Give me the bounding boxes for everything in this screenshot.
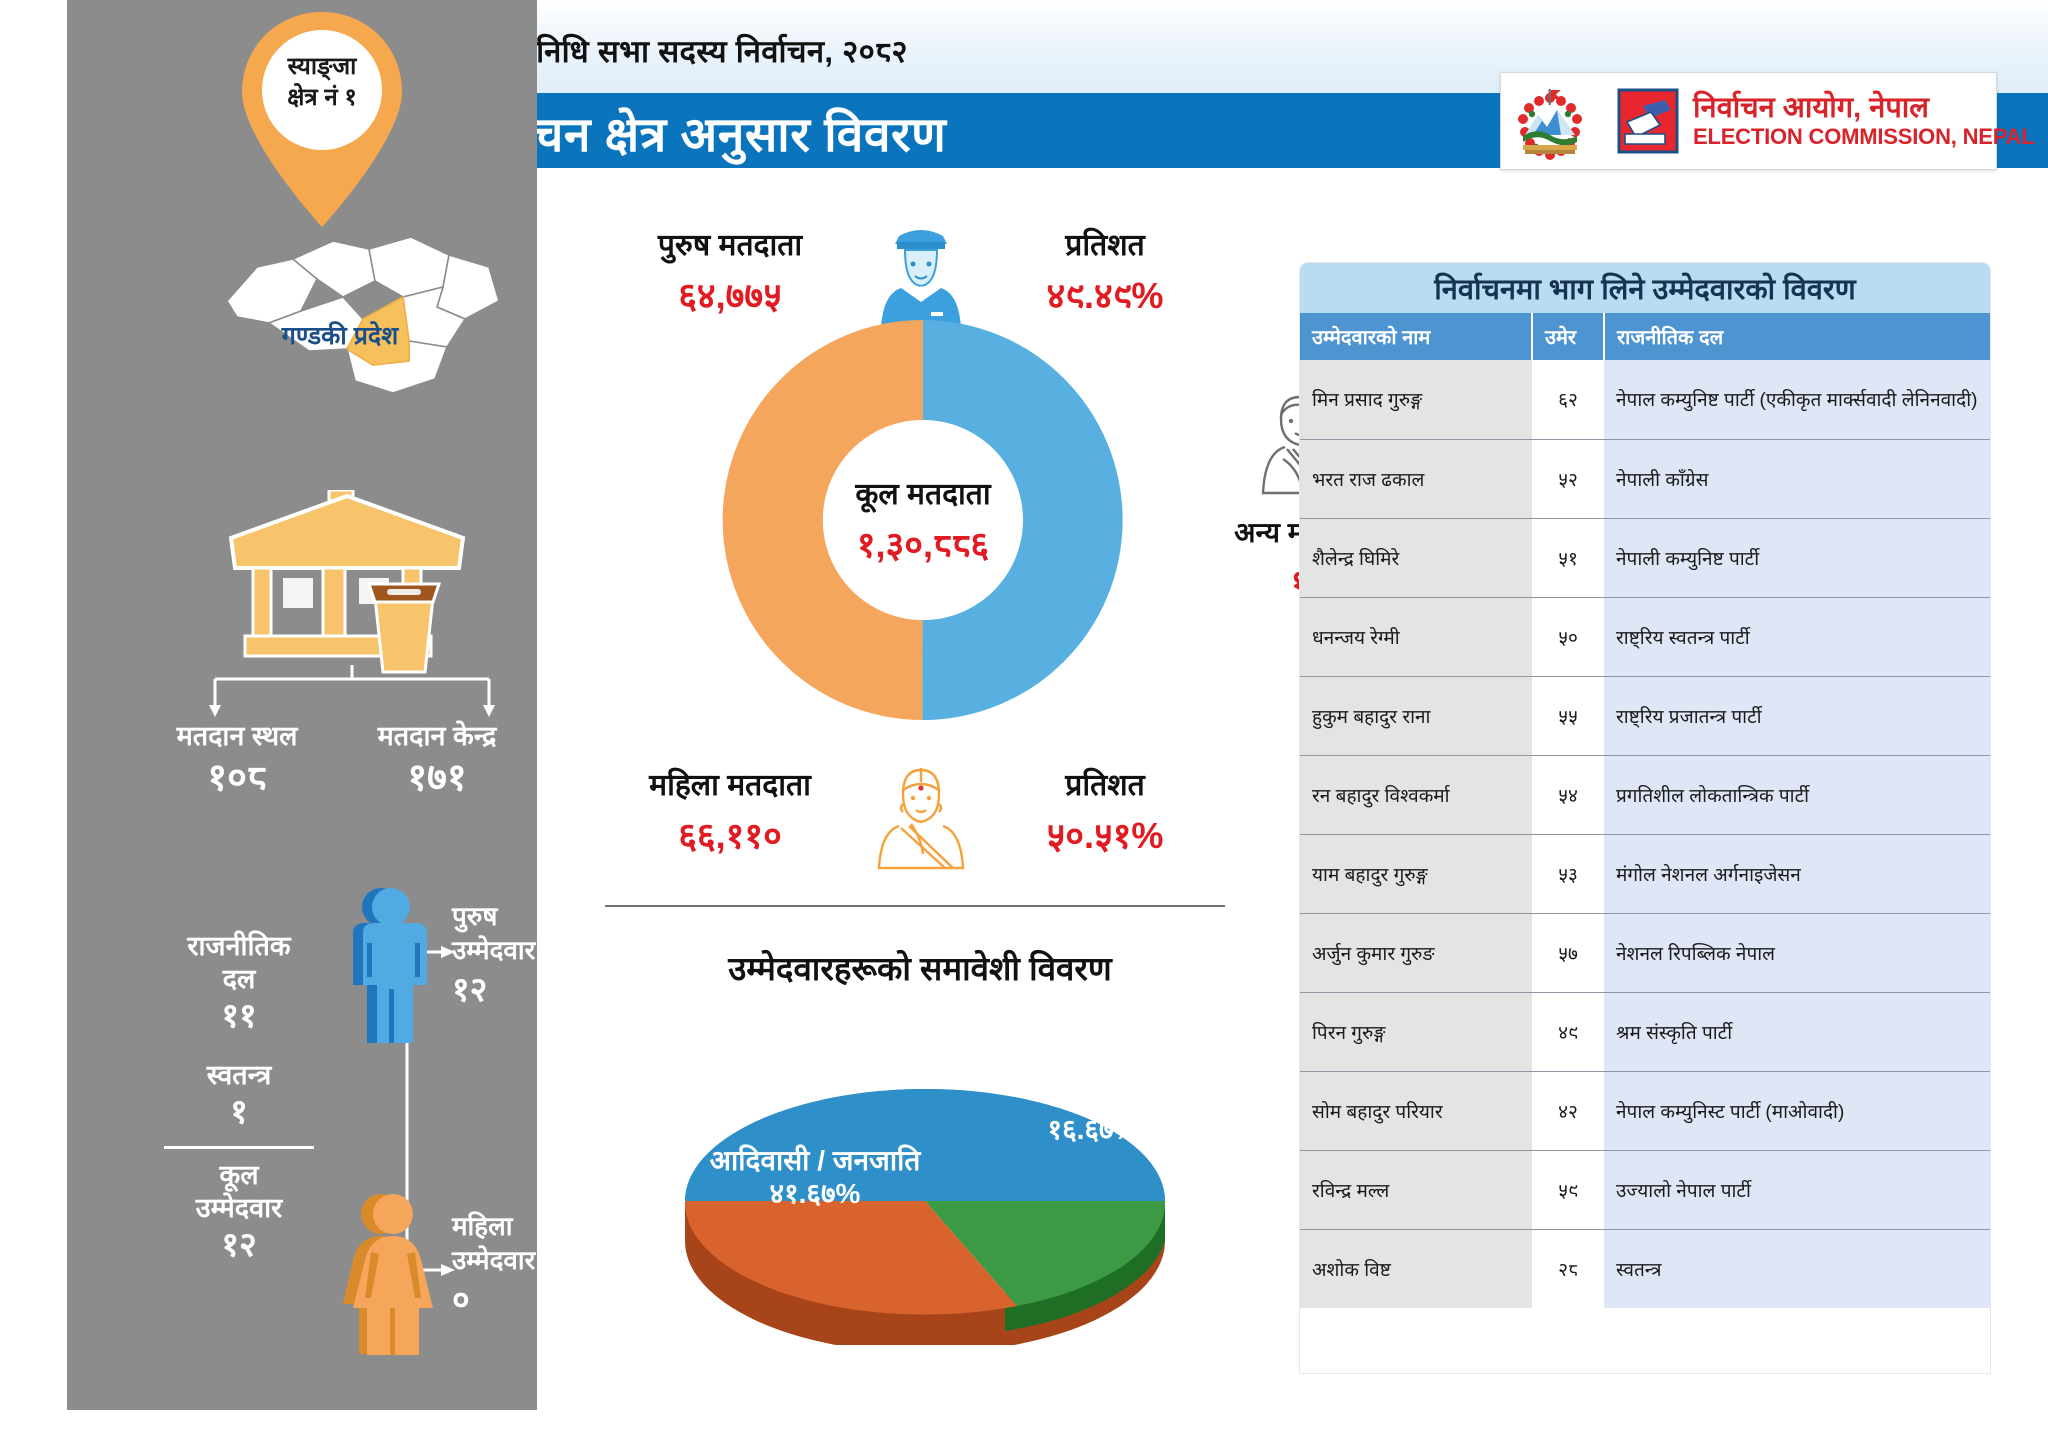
candidate-party-cell: नेपाली काँग्रेस: [1604, 439, 1990, 518]
table-row[interactable]: रन बहादुर विश्वकर्मा५४प्रगतिशील लोकतान्त…: [1300, 755, 1990, 834]
male-candidate-icon: [337, 885, 447, 1045]
candidate-age-cell: ४२: [1532, 1071, 1604, 1150]
sum-rule: [164, 1146, 314, 1149]
female-voter-stat: महिला मतदाता ६६,११०: [600, 768, 860, 859]
candidate-age-cell: ५०: [1532, 597, 1604, 676]
table-row[interactable]: रविन्द्र मल्ल५९उज्यालो नेपाल पार्टी: [1300, 1150, 1990, 1229]
candidate-name-cell: धनन्जय रेग्मी: [1300, 597, 1532, 676]
candidate-age-cell: २८: [1532, 1229, 1604, 1308]
pie-label-khas-arya: खस आर्य ४१.६७%: [755, 1019, 955, 1085]
candidate-name-cell: रविन्द्र मल्ल: [1300, 1150, 1532, 1229]
table-row[interactable]: मिन प्रसाद गुरुङ्ग६२नेपाल कम्युनिष्ट पार…: [1300, 360, 1990, 439]
candidate-party-cell: प्रगतिशील लोकतान्त्रिक पार्टी: [1604, 755, 1990, 834]
female-voter-row: महिला मतदाता ६६,११०: [600, 760, 1240, 870]
polling-connector-lines: [207, 665, 497, 725]
polling-center-label: मतदान केन्द्र: [332, 720, 542, 754]
table-row[interactable]: सोम बहादुर परियार४२नेपाल कम्युनिस्ट पार्…: [1300, 1071, 1990, 1150]
political-party-label-2: दल: [129, 963, 349, 996]
infographic-page: प्रतिनिधि सभा सदस्य निर्वाचन, २०८२ निर्व…: [0, 0, 2048, 1448]
polling-place-value: १०८: [137, 756, 337, 802]
candidate-name-cell: शैलेन्द्र घिमिरे: [1300, 518, 1532, 597]
candidate-name-cell: भरत राज ढकाल: [1300, 439, 1532, 518]
candidate-age-cell: ५४: [1532, 755, 1604, 834]
candidate-age-cell: ५५: [1532, 676, 1604, 755]
candidate-age-cell: ५३: [1532, 834, 1604, 913]
pie-label-dalit-value: १६.६७%: [1013, 1113, 1173, 1147]
total-candidates-label-1: कूल: [129, 1159, 349, 1192]
candidate-party-cell: नेपाल कम्युनिस्ट पार्टी (माओवादी): [1604, 1071, 1990, 1150]
female-voter-percent-label: प्रतिशत: [980, 768, 1230, 804]
pie-label-dalit-name: दलित: [1013, 1081, 1173, 1113]
pin-label: स्याङ्जा क्षेत्र नं १: [242, 52, 402, 113]
polling-place-label: मतदान स्थल: [137, 720, 337, 754]
candidate-name-cell: सोम बहादुर परियार: [1300, 1071, 1532, 1150]
male-voter-label: पुरुष मतदाता: [600, 228, 860, 264]
pie-label-dalit: दलित १६.६७%: [1013, 1081, 1173, 1147]
candidate-age-cell: ५७: [1532, 913, 1604, 992]
pie-label-adivasi-value: ४१.६७%: [665, 1177, 965, 1211]
table-row[interactable]: याम बहादुर गुरुङ्ग५३मंगोल नेशनल अर्गनाइज…: [1300, 834, 1990, 913]
table-row[interactable]: अशोक विष्ट२८स्वतन्त्र: [1300, 1229, 1990, 1308]
candidate-party-cell: राष्ट्रिय स्वतन्त्र पार्टी: [1604, 597, 1990, 676]
total-candidates-label-2: उम्मेदवार: [129, 1192, 349, 1225]
left-sidebar: स्याङ्जा क्षेत्र नं १ गण्डकी प्रदेश: [67, 0, 537, 1410]
polling-center-stat: मतदान केन्द्र १७१: [332, 720, 542, 801]
candidates-table: उम्मेदवारको नाम उमेर राजनीतिक दल मिन प्र…: [1300, 313, 1990, 1308]
pie-label-khas-arya-value: ४१.६७%: [755, 1051, 955, 1085]
column-header-age[interactable]: उमेर: [1532, 313, 1604, 360]
polling-station-icon: [227, 490, 467, 675]
logo-name-nepali: निर्वाचन आयोग, नेपाल: [1693, 93, 2035, 125]
candidate-party-cell: नेपाली कम्युनिष्ट पार्टी: [1604, 518, 1990, 597]
table-row[interactable]: पिरन गुरुङ्ग४९श्रम संस्कृति पार्टी: [1300, 992, 1990, 1071]
pin-label-line1: स्याङ्जा: [242, 52, 402, 83]
candidate-age-cell: ४९: [1532, 992, 1604, 1071]
center-column: पुरुष मतदाता ६४,७७५ प्रतिशत ४९.४९%: [560, 175, 1280, 1425]
female-voter-value: ६६,११०: [600, 810, 860, 859]
pie-label-adivasi-name: आदिवासी / जनजाति: [665, 1145, 965, 1177]
voter-donut-chart: कूल मतदाता १,३०,८८६: [698, 295, 1148, 745]
candidates-table-panel: निर्वाचनमा भाग लिने उम्मेदवारको विवरण उम…: [1300, 263, 1990, 1373]
province-map: [197, 215, 527, 415]
logo-name-english: ELECTION COMMISSION, NEPAL: [1693, 125, 2035, 149]
column-header-name[interactable]: उम्मेदवारको नाम: [1300, 313, 1532, 360]
nepal-emblem-icon: [1511, 79, 1589, 163]
candidate-name-cell: अर्जुन कुमार गुरुङ: [1300, 913, 1532, 992]
logo-text-block: निर्वाचन आयोग, नेपाल ELECTION COMMISSION…: [1693, 93, 2035, 149]
constituency-pin: स्याङ्जा क्षेत्र नं १: [242, 12, 402, 227]
table-row[interactable]: शैलेन्द्र घिमिरे५१नेपाली कम्युनिष्ट पार्…: [1300, 518, 1990, 597]
inclusion-chart-title: उम्मेदवारहरूको समावेशी विवरण: [560, 945, 1280, 990]
candidate-party-cell: राष्ट्रिय प्रजातन्त्र पार्टी: [1604, 676, 1990, 755]
candidates-table-body: मिन प्रसाद गुरुङ्ग६२नेपाल कम्युनिष्ट पार…: [1300, 360, 1990, 1308]
independent-label: स्वतन्त्र: [129, 1059, 349, 1092]
gandaki-map-icon: [197, 215, 527, 415]
candidate-name-cell: मिन प्रसाद गुरुङ्ग: [1300, 360, 1532, 439]
total-candidates-value: १२: [129, 1225, 349, 1266]
political-party-value: ११: [129, 996, 349, 1037]
province-name: गण्डकी प्रदेश: [175, 318, 505, 352]
political-party-label-1: राजनीतिक: [129, 930, 349, 963]
candidate-age-cell: ६२: [1532, 360, 1604, 439]
candidate-party-cell: श्रम संस्कृति पार्टी: [1604, 992, 1990, 1071]
candidate-age-cell: ५१: [1532, 518, 1604, 597]
candidate-party-cell: नेशनल रिपब्लिक नेपाल: [1604, 913, 1990, 992]
map-pin-icon: [242, 12, 402, 227]
candidate-party-cell: स्वतन्त्र: [1604, 1229, 1990, 1308]
female-voter-percent-value: ५०.५१%: [980, 810, 1230, 859]
female-voter-avatar-icon: [875, 760, 967, 870]
candidate-name-cell: हुकुम बहादुर राना: [1300, 676, 1532, 755]
female-candidate-icon: [335, 1190, 450, 1355]
candidate-age-cell: ५९: [1532, 1150, 1604, 1229]
pie-label-adivasi: आदिवासी / जनजाति ४१.६७%: [665, 1145, 965, 1211]
female-voter-label: महिला मतदाता: [600, 768, 860, 804]
candidate-name-cell: याम बहादुर गुरुङ्ग: [1300, 834, 1532, 913]
male-voter-percent-label: प्रतिशत: [980, 228, 1230, 264]
table-row[interactable]: अर्जुन कुमार गुरुङ५७नेशनल रिपब्लिक नेपाल: [1300, 913, 1990, 992]
column-header-party[interactable]: राजनीतिक दल: [1604, 313, 1990, 360]
section-divider: [605, 905, 1225, 907]
candidate-party-cell: नेपाल कम्युनिष्ट पार्टी (एकीकृत मार्क्सव…: [1604, 360, 1990, 439]
table-header-row: उम्मेदवारको नाम उमेर राजनीतिक दल: [1300, 313, 1990, 360]
candidates-table-banner: निर्वाचनमा भाग लिने उम्मेदवारको विवरण: [1300, 263, 1990, 313]
candidate-name-cell: अशोक विष्ट: [1300, 1229, 1532, 1308]
election-commission-logo-box: निर्वाचन आयोग, नेपाल ELECTION COMMISSION…: [1500, 72, 1997, 170]
independent-value: १: [129, 1092, 349, 1133]
inclusion-pie-chart: खस आर्य ४१.६७% दलित १६.६७% आदिवासी / जनज…: [645, 1005, 1205, 1345]
left-white-strip: [0, 0, 67, 1448]
candidate-age-cell: ५२: [1532, 439, 1604, 518]
table-row[interactable]: हुकुम बहादुर राना५५राष्ट्रिय प्रजातन्त्र…: [1300, 676, 1990, 755]
female-voter-percent-stat: प्रतिशत ५०.५१%: [980, 768, 1230, 859]
candidate-name-cell: पिरन गुरुङ्ग: [1300, 992, 1532, 1071]
candidate-party-cell: उज्यालो नेपाल पार्टी: [1604, 1150, 1990, 1229]
candidate-party-cell: मंगोल नेशनल अर्गनाइजेसन: [1604, 834, 1990, 913]
ec-ballot-icon: [1617, 88, 1679, 154]
pin-label-line2: क्षेत्र नं १: [242, 83, 402, 114]
polling-place-stat: मतदान स्थल १०८: [137, 720, 337, 801]
pie-label-khas-arya-name: खस आर्य: [755, 1019, 955, 1051]
polling-center-value: १७१: [332, 756, 542, 802]
candidate-name-cell: रन बहादुर विश्वकर्मा: [1300, 755, 1532, 834]
table-row[interactable]: धनन्जय रेग्मी५०राष्ट्रिय स्वतन्त्र पार्ट…: [1300, 597, 1990, 676]
candidate-source-block: राजनीतिक दल ११ स्वतन्त्र १ कूल उम्मेदवार…: [129, 930, 349, 1266]
table-row[interactable]: भरत राज ढकाल५२नेपाली काँग्रेस: [1300, 439, 1990, 518]
